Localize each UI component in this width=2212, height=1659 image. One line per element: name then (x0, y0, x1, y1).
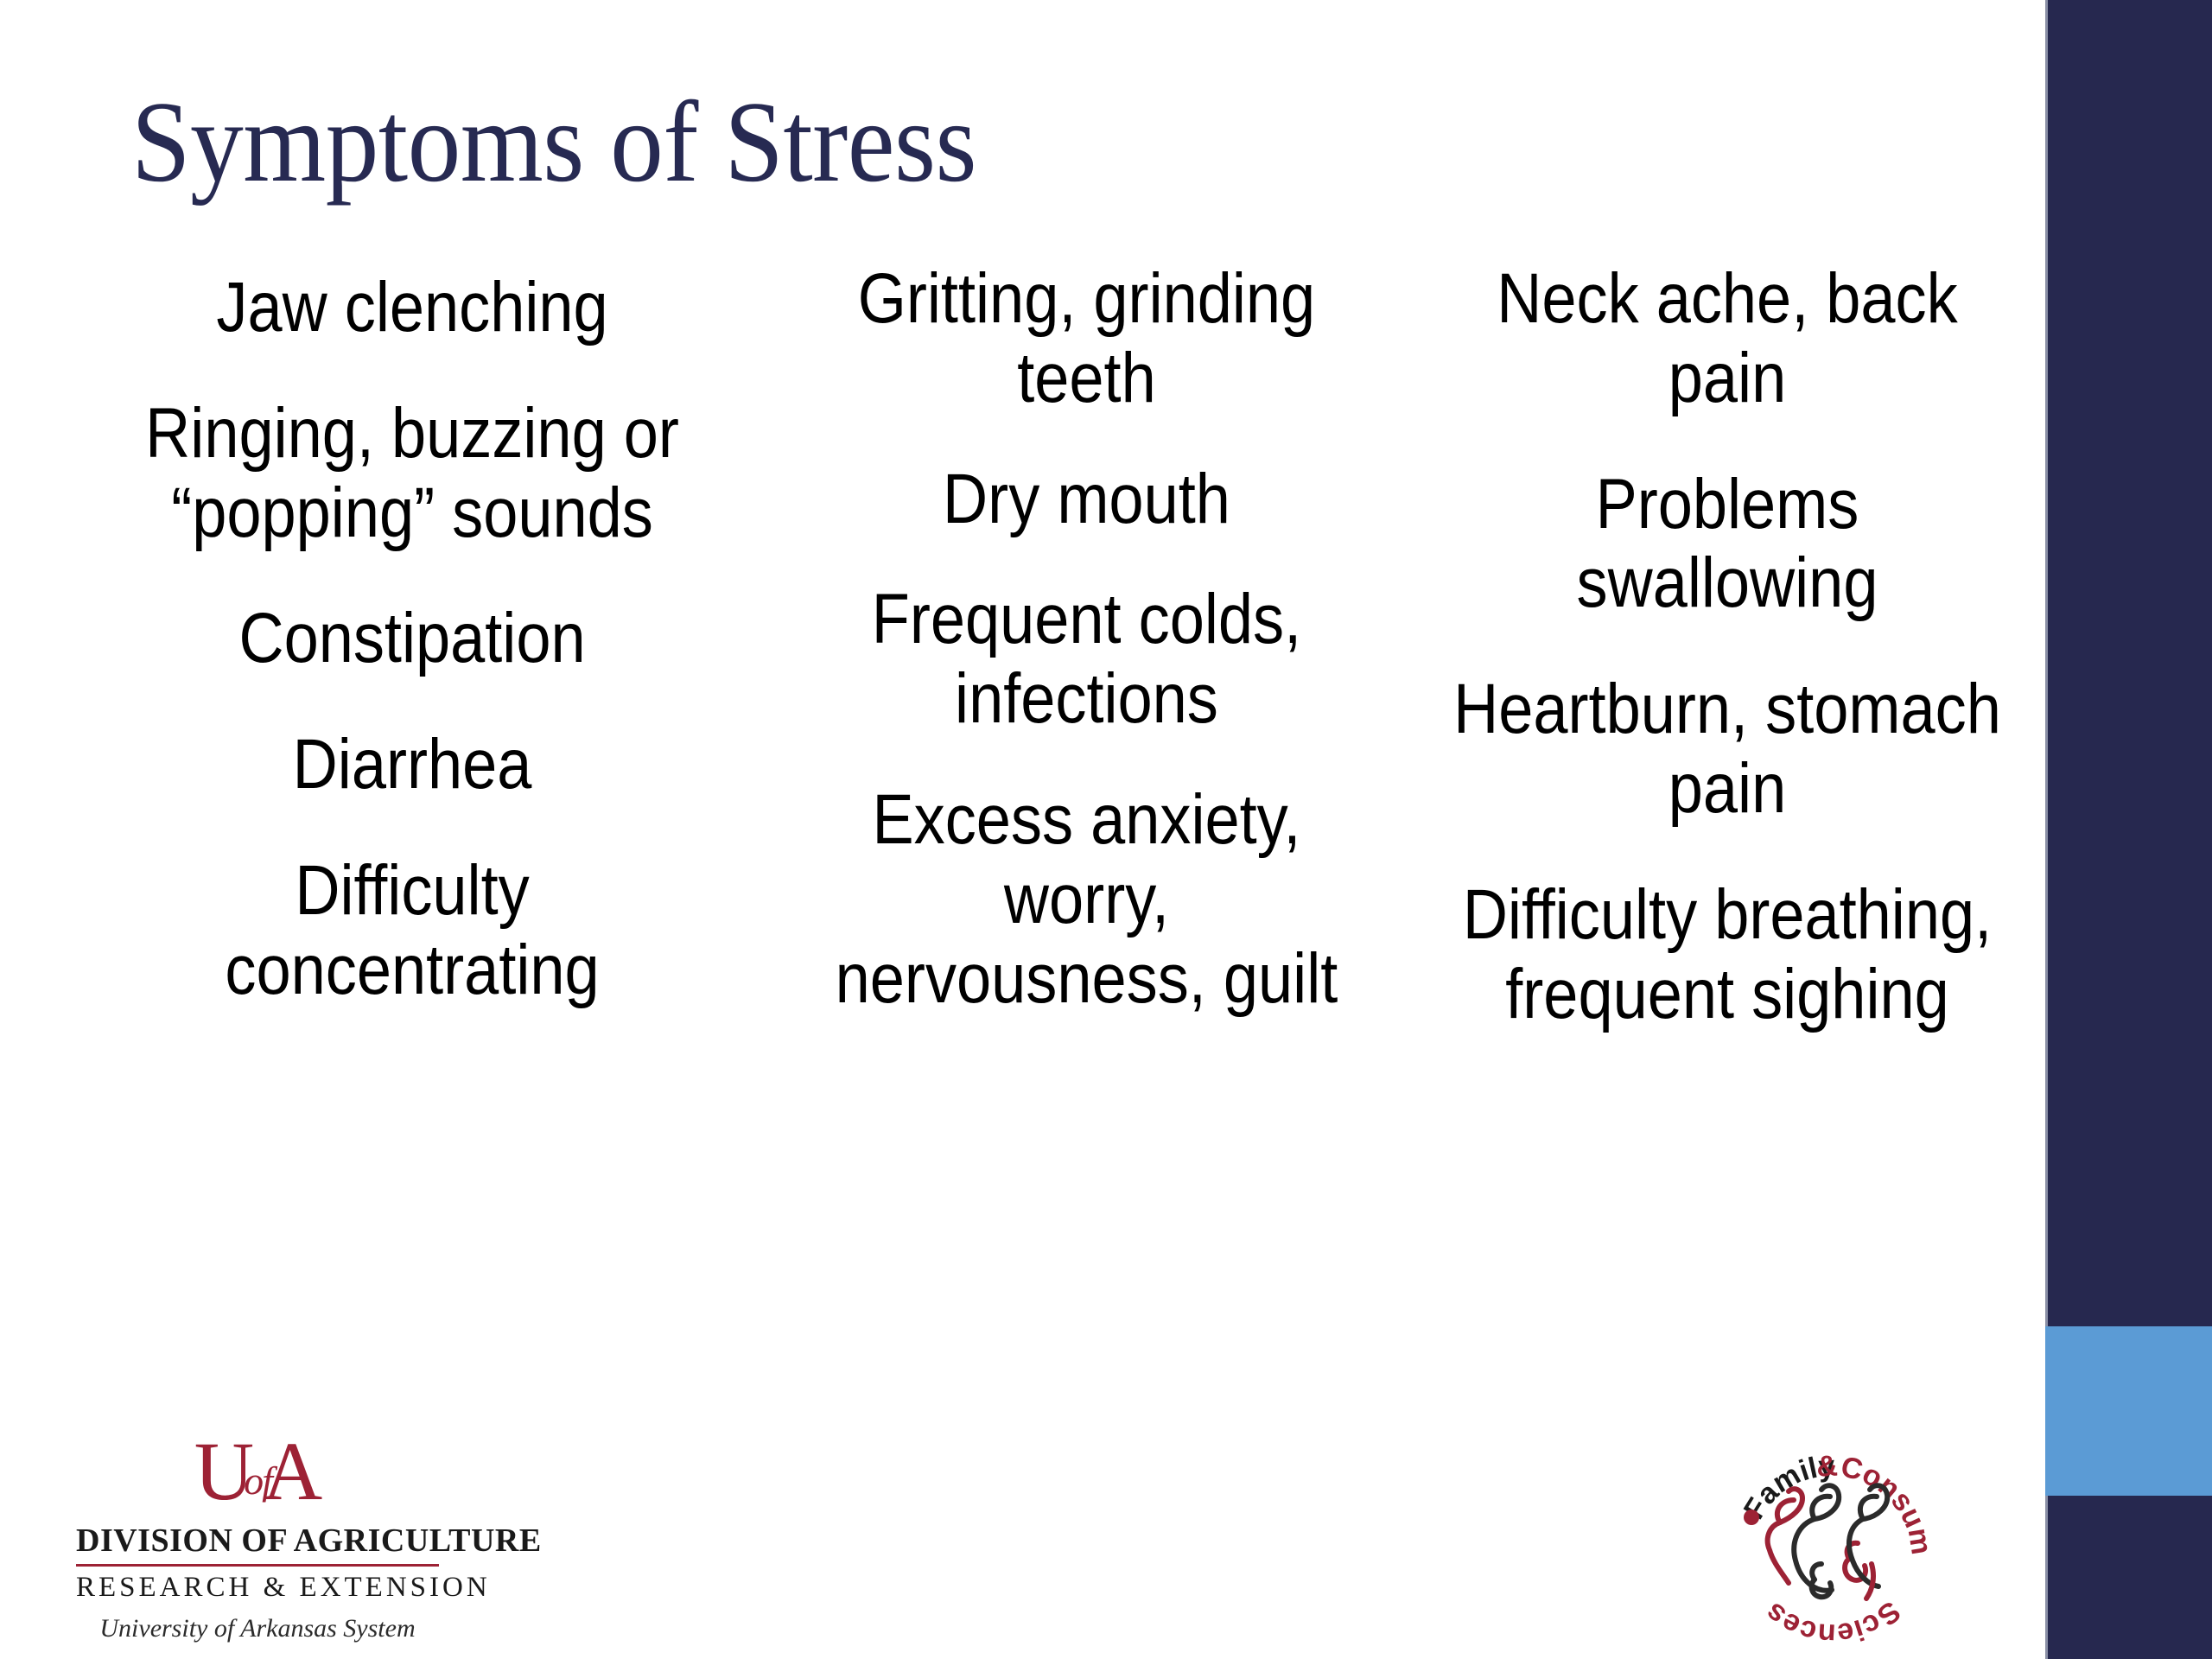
symptom-item: Jaw clenching (216, 268, 607, 347)
family-consumer-sciences-logo: Family & Consumer Sciences (1719, 1434, 1944, 1650)
symptom-column-2: Gritting, grinding teeth Dry mouth Frequ… (818, 259, 1356, 1060)
symptom-item: Difficulty concentrating (111, 851, 715, 1010)
symptom-item: Ringing, buzzing or “popping” sounds (111, 394, 715, 553)
uofa-letter-a: A (263, 1425, 321, 1517)
page-title: Symptoms of Stress (131, 82, 1403, 202)
uofa-division-label: DIVISION OF AGRICULTURE (76, 1522, 439, 1560)
uofa-division-of-agriculture-logo: UofA DIVISION OF AGRICULTURE RESEARCH & … (76, 1430, 439, 1643)
symptom-item: Difficulty breathing, frequent sighing (1447, 875, 2007, 1034)
right-decorative-bar (2045, 0, 2212, 1659)
symptom-item: Heartburn, stomach pain (1447, 670, 2007, 829)
uofa-research-extension-label: RESEARCH & EXTENSION (76, 1572, 439, 1604)
symptom-item: Frequent colds, infections (818, 580, 1356, 739)
symptom-item: Dry mouth (943, 460, 1230, 539)
symptom-column-3: Neck ache, back pain Problems swallowing… (1447, 259, 2007, 1081)
uofa-system-label: University of Arkansas System (76, 1614, 439, 1643)
symptom-item: Problems swallowing (1447, 465, 2007, 624)
svg-text:Sciences: Sciences (1758, 1594, 1906, 1650)
uofa-wordmark: UofA (76, 1430, 439, 1513)
symptom-item: Gritting, grinding teeth (818, 259, 1356, 418)
slide-canvas: Symptoms of Stress Jaw clenching Ringing… (0, 0, 2212, 1659)
symptom-column-1: Jaw clenching Ringing, buzzing or “poppi… (111, 259, 715, 1057)
svg-text:&: & (1815, 1450, 1839, 1484)
symptom-item: Neck ache, back pain (1447, 259, 2007, 418)
symptom-columns: Jaw clenching Ringing, buzzing or “poppi… (0, 259, 2045, 1382)
fcs-logo-icon: Family & Consumer Sciences (1719, 1434, 1944, 1650)
symptom-item: Excess anxiety, worry, nervousness, guil… (818, 780, 1356, 1018)
symptom-item: Constipation (238, 599, 585, 678)
symptom-item: Diarrhea (293, 725, 532, 804)
uofa-divider-rule (76, 1564, 439, 1567)
right-bar-blue-accent (2045, 1326, 2212, 1496)
